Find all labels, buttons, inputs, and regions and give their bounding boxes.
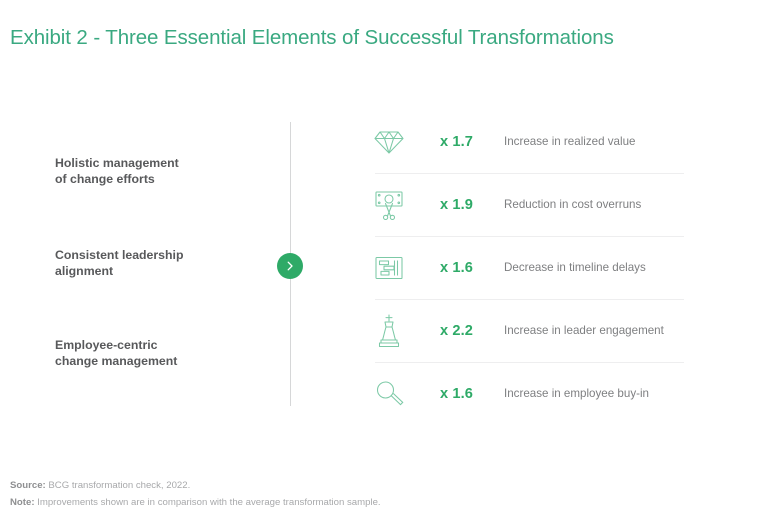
metric-value: x 2.2 (440, 323, 504, 339)
footer-note-label: Note: (10, 497, 35, 508)
metric-value: x 1.6 (440, 386, 504, 402)
footer-source-text: BCG transformation check, 2022. (46, 480, 191, 491)
money-scissors-icon (366, 185, 412, 225)
connector-node-button[interactable] (277, 253, 303, 279)
pillar-label-1-line1: Consistent leadership (55, 248, 183, 262)
pillar-label-1: Consistent leadership alignment (55, 248, 270, 279)
metric-description: Decrease in timeline delays (504, 261, 646, 274)
pillar-label-1-line2: alignment (55, 264, 113, 278)
metric-row: x 1.6 Decrease in timeline delays (366, 236, 682, 299)
metric-row: x 1.9 Reduction in cost overruns (366, 173, 682, 236)
magnifier-icon (366, 374, 412, 414)
pillar-label-0: Holistic management of change efforts (55, 156, 270, 187)
pillar-label-2-line2: change management (55, 354, 177, 368)
metric-description: Increase in leader engagement (504, 324, 664, 337)
pillars-column: Holistic management of change efforts Co… (55, 120, 270, 410)
chess-king-icon (366, 311, 412, 351)
footer: Source: BCG transformation check, 2022. … (10, 477, 750, 511)
diamond-icon (366, 122, 412, 162)
metric-description: Increase in employee buy-in (504, 387, 649, 400)
metric-row: x 2.2 Increase in leader engagement (366, 299, 682, 362)
footer-source-label: Source: (10, 480, 46, 491)
pillar-label-2: Employee-centric change management (55, 338, 270, 369)
footer-source: Source: BCG transformation check, 2022. (10, 477, 750, 494)
pillar-label-2-line1: Employee-centric (55, 338, 158, 352)
chevron-right-icon (283, 259, 297, 273)
footer-note-text: Improvements shown are in comparison wit… (35, 497, 381, 508)
metric-row: x 1.6 Increase in employee buy-in (366, 362, 682, 425)
footer-note: Note: Improvements shown are in comparis… (10, 494, 750, 511)
gantt-chart-icon (366, 248, 412, 288)
metric-row: x 1.7 Increase in realized value (366, 110, 682, 173)
pillar-label-0-line2: of change efforts (55, 172, 155, 186)
metric-value: x 1.9 (440, 197, 504, 213)
pillar-label-0-line1: Holistic management (55, 156, 179, 170)
page-title: Exhibit 2 - Three Essential Elements of … (10, 26, 614, 50)
metric-description: Increase in realized value (504, 135, 635, 148)
metric-description: Reduction in cost overruns (504, 198, 641, 211)
metrics-list: x 1.7 Increase in realized value (366, 110, 682, 425)
metric-value: x 1.6 (440, 260, 504, 276)
metric-value: x 1.7 (440, 134, 504, 150)
